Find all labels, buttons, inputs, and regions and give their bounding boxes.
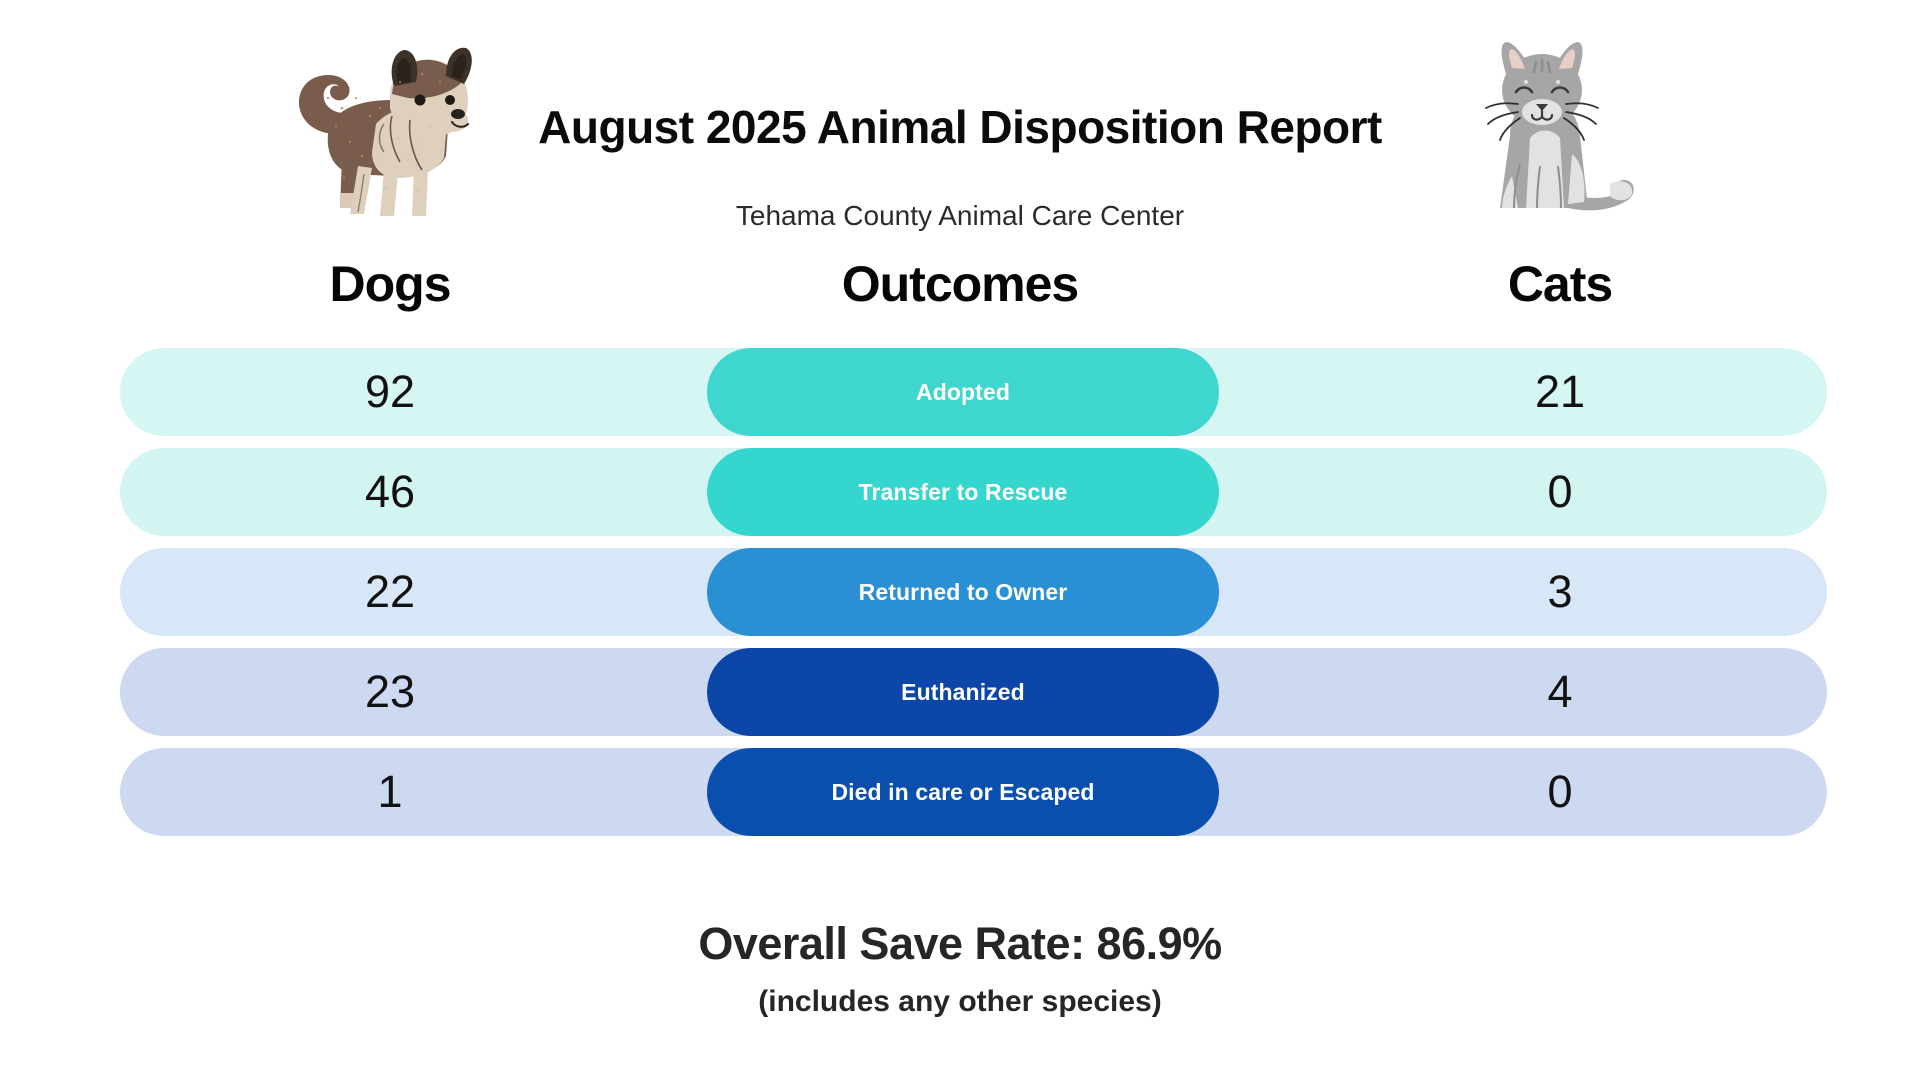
row-count-dogs: 23 (230, 648, 550, 736)
row-count-dogs: 22 (230, 548, 550, 636)
row-count-cats: 0 (1400, 448, 1720, 536)
row-count-dogs: 46 (230, 448, 550, 536)
outcome-pill: Transfer to Rescue (707, 448, 1219, 536)
row-count-cats: 0 (1400, 748, 1720, 836)
column-heading-dogs: Dogs (230, 255, 550, 313)
table-row: 92Adopted21 (120, 348, 1827, 436)
page-title: August 2025 Animal Disposition Report (0, 100, 1920, 154)
overall-save-rate: Overall Save Rate: 86.9% (0, 918, 1920, 970)
row-count-cats: 4 (1400, 648, 1720, 736)
page-subtitle: Tehama County Animal Care Center (0, 200, 1920, 232)
row-count-dogs: 92 (230, 348, 550, 436)
row-count-cats: 21 (1400, 348, 1720, 436)
outcome-pill: Euthanized (707, 648, 1219, 736)
outcome-pill: Died in care or Escaped (707, 748, 1219, 836)
table-row: 46Transfer to Rescue0 (120, 448, 1827, 536)
row-count-cats: 3 (1400, 548, 1720, 636)
table-row: 23Euthanized4 (120, 648, 1827, 736)
outcomes-table: 92Adopted2146Transfer to Rescue022Return… (120, 348, 1827, 848)
table-row: 1Died in care or Escaped0 (120, 748, 1827, 836)
column-heading-outcomes: Outcomes (720, 255, 1200, 313)
infographic-canvas: August 2025 Animal Disposition Report Te… (0, 0, 1920, 1080)
row-count-dogs: 1 (230, 748, 550, 836)
outcome-pill: Returned to Owner (707, 548, 1219, 636)
column-heading-cats: Cats (1400, 255, 1720, 313)
save-rate-note: (includes any other species) (0, 985, 1920, 1019)
outcome-pill: Adopted (707, 348, 1219, 436)
table-row: 22Returned to Owner3 (120, 548, 1827, 636)
